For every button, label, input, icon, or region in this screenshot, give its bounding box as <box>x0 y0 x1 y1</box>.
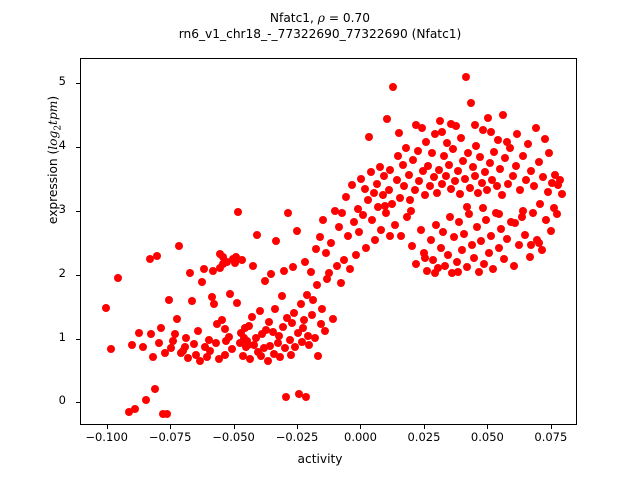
scatter-point <box>147 330 155 338</box>
scatter-point <box>447 120 455 128</box>
scatter-point <box>440 152 448 160</box>
scatter-point <box>261 277 269 285</box>
scatter-point <box>266 342 274 350</box>
scatter-point <box>198 278 206 286</box>
scatter-point <box>249 262 257 270</box>
x-tick-mark <box>424 425 425 429</box>
scatter-point <box>200 265 208 273</box>
scatter-point <box>400 182 408 190</box>
scatter-point <box>511 219 519 227</box>
y-tick-label-text: 1 <box>59 330 66 344</box>
scatter-point <box>397 232 405 240</box>
scatter-point <box>417 226 425 234</box>
scatter-point <box>498 191 506 199</box>
scatter-point <box>462 73 470 81</box>
scatter-point <box>515 241 523 249</box>
scatter-point <box>340 256 348 264</box>
scatter-point <box>350 218 358 226</box>
scatter-point <box>441 262 449 270</box>
x-tick-label: −0.100 <box>85 430 128 444</box>
scatter-point <box>190 340 198 348</box>
scatter-point <box>421 191 429 199</box>
scatter-point <box>163 410 171 418</box>
scatter-point <box>481 168 489 176</box>
scatter-point <box>139 343 147 351</box>
scatter-point <box>489 265 497 273</box>
scatter-point <box>484 114 492 122</box>
scatter-point <box>495 244 503 252</box>
y-tick-label-text: 2 <box>59 266 66 280</box>
scatter-point <box>288 319 296 327</box>
scatter-point <box>393 176 401 184</box>
y-tick-label-text: 0 <box>59 393 66 407</box>
scatter-point <box>221 351 229 359</box>
scatter-point <box>490 148 498 156</box>
scatter-point <box>359 211 367 219</box>
scatter-point <box>301 258 309 266</box>
x-tick-mark <box>107 425 108 429</box>
scatter-point <box>468 241 476 249</box>
scatter-point <box>367 168 375 176</box>
scatter-point <box>135 329 143 337</box>
scatter-point <box>456 190 464 198</box>
scatter-point <box>415 177 423 185</box>
scatter-point <box>544 188 552 196</box>
scatter-point <box>529 209 537 217</box>
scatter-point <box>382 209 390 217</box>
scatter-plot-area <box>81 59 576 424</box>
scatter-point <box>394 152 402 160</box>
chart-title-block: Nfatc1, ρ = 0.70 rn6_v1_chr18_-_77322690… <box>0 10 640 42</box>
scatter-point <box>248 313 256 321</box>
scatter-point <box>153 252 161 260</box>
scatter-point <box>325 269 333 277</box>
scatter-point <box>171 330 179 338</box>
scatter-point <box>483 186 491 194</box>
chart-title: Nfatc1, ρ = 0.70 <box>0 10 640 26</box>
y-tick-mark <box>76 83 80 84</box>
scatter-point <box>538 246 546 254</box>
plot-axes-frame <box>80 58 577 425</box>
scatter-point <box>313 281 321 289</box>
scatter-point <box>182 334 190 342</box>
scatter-point <box>352 251 360 259</box>
scatter-point <box>298 338 306 346</box>
scatter-point <box>519 207 527 215</box>
scatter-point <box>373 180 381 188</box>
scatter-point <box>181 343 189 351</box>
scatter-point <box>535 239 543 247</box>
scatter-point <box>495 210 503 218</box>
x-tick-mark <box>234 425 235 429</box>
scatter-point <box>169 337 177 345</box>
scatter-point <box>245 322 253 330</box>
x-tick-label: 0.050 <box>471 430 504 444</box>
scatter-point <box>333 262 341 270</box>
scatter-point <box>314 352 322 360</box>
scatter-point <box>519 152 527 160</box>
scatter-point <box>338 209 346 217</box>
scatter-point <box>299 324 307 332</box>
scatter-point <box>409 156 417 164</box>
scatter-point <box>504 180 512 188</box>
x-tick-mark <box>487 425 488 429</box>
scatter-point <box>396 194 404 202</box>
scatter-point <box>459 157 467 165</box>
scatter-point <box>446 213 454 221</box>
scatter-point <box>454 268 462 276</box>
scatter-point <box>142 396 150 404</box>
x-tick-mark <box>551 425 552 429</box>
scatter-point <box>335 223 343 231</box>
y-tick-mark <box>76 402 80 403</box>
scatter-point <box>433 189 441 197</box>
scatter-point <box>509 172 517 180</box>
scatter-point <box>411 186 419 194</box>
scatter-point <box>503 138 511 146</box>
scatter-point <box>157 324 165 332</box>
scatter-point <box>186 269 194 277</box>
scatter-point <box>385 186 393 194</box>
scatter-point <box>469 163 477 171</box>
scatter-point <box>485 249 493 257</box>
scatter-point <box>526 253 534 261</box>
scatter-point <box>155 339 163 347</box>
scatter-point <box>272 237 280 245</box>
scatter-point <box>278 292 286 300</box>
scatter-point <box>558 190 566 198</box>
scatter-point <box>541 135 549 143</box>
scatter-point <box>151 385 159 393</box>
scatter-point <box>386 166 394 174</box>
ylabel-math-subscript: 2 <box>53 125 63 131</box>
scatter-point <box>475 268 483 276</box>
scatter-point <box>282 393 290 401</box>
scatter-point <box>238 256 246 264</box>
scatter-point <box>474 189 482 197</box>
scatter-point <box>476 153 484 161</box>
scatter-point <box>472 142 480 150</box>
y-tick-mark <box>76 211 80 212</box>
scatter-point <box>309 296 317 304</box>
scatter-point <box>381 202 389 210</box>
scatter-point <box>442 172 450 180</box>
scatter-point <box>280 267 288 275</box>
scatter-point <box>365 133 373 141</box>
scatter-point <box>460 230 468 238</box>
scatter-point <box>535 158 543 166</box>
scatter-point <box>429 256 437 264</box>
scatter-point <box>246 355 254 363</box>
scatter-point <box>501 154 509 162</box>
scatter-point <box>188 297 196 305</box>
scatter-point <box>463 263 471 271</box>
y-tick-mark <box>76 275 80 276</box>
y-tick-mark <box>76 339 80 340</box>
x-tick-mark <box>360 425 361 429</box>
scatter-point <box>322 249 330 257</box>
scatter-point <box>486 159 494 167</box>
scatter-point <box>473 223 481 231</box>
x-tick-mark <box>297 425 298 429</box>
scatter-point <box>395 129 403 137</box>
scatter-point <box>522 176 530 184</box>
scatter-point <box>386 232 394 240</box>
x-tick-label: 0.075 <box>534 430 567 444</box>
scatter-point <box>471 172 479 180</box>
scatter-point <box>436 117 444 125</box>
scatter-point <box>438 128 446 136</box>
scatter-point <box>300 316 308 324</box>
scatter-point <box>399 161 407 169</box>
scatter-point <box>290 309 298 317</box>
scatter-point <box>408 242 416 250</box>
scatter-point <box>428 149 436 157</box>
scatter-point <box>361 185 369 193</box>
scatter-point <box>316 233 324 241</box>
scatter-point <box>556 176 564 184</box>
scatter-point <box>432 221 440 229</box>
scatter-point <box>532 124 540 132</box>
scatter-point <box>271 305 279 313</box>
scatter-point <box>547 227 555 235</box>
scatter-point <box>524 140 532 148</box>
scatter-point <box>422 138 430 146</box>
scatter-point <box>471 121 479 129</box>
scatter-point <box>464 149 472 157</box>
scatter-point <box>194 327 202 335</box>
scatter-point <box>449 145 457 153</box>
scatter-point <box>542 216 550 224</box>
scatter-point <box>305 341 313 349</box>
scatter-point <box>131 405 139 413</box>
scatter-point <box>337 279 345 287</box>
scatter-point <box>467 99 475 107</box>
scatter-point <box>175 242 183 250</box>
scatter-point <box>128 341 136 349</box>
scatter-point <box>388 200 396 208</box>
scatter-point <box>344 232 352 240</box>
x-tick-mark <box>170 425 171 429</box>
scatter-point <box>545 149 553 157</box>
scatter-point <box>500 255 508 263</box>
scatter-point <box>527 241 535 249</box>
y-tick-mark <box>76 147 80 148</box>
scatter-point <box>412 260 420 268</box>
scatter-point <box>470 254 478 262</box>
scatter-point <box>383 115 391 123</box>
scatter-point <box>447 185 455 193</box>
scatter-point <box>244 341 252 349</box>
scatter-point <box>165 296 173 304</box>
scatter-point <box>391 221 399 229</box>
scatter-point <box>218 316 226 324</box>
scatter-point <box>318 305 326 313</box>
x-tick-label: −0.050 <box>212 430 255 444</box>
x-tick-label: 0.025 <box>407 430 440 444</box>
scatter-point <box>389 83 397 91</box>
scatter-point <box>457 134 465 142</box>
scatter-point <box>256 307 264 315</box>
scatter-point <box>293 227 301 235</box>
scatter-point <box>206 347 214 355</box>
scatter-point <box>149 353 157 361</box>
scatter-point <box>510 262 518 270</box>
scatter-point <box>228 345 236 353</box>
scatter-point <box>539 173 547 181</box>
scatter-point <box>477 237 485 245</box>
x-tick-label: −0.075 <box>149 430 192 444</box>
scatter-point <box>521 231 529 239</box>
scatter-point <box>463 203 471 211</box>
scatter-point <box>253 231 261 239</box>
scatter-point <box>466 184 474 192</box>
scatter-point <box>458 246 466 254</box>
chart-subtitle: rn6_v1_chr18_-_77322690_77322690 (Nfatc1… <box>0 26 640 42</box>
scatter-point <box>512 162 520 170</box>
scatter-point <box>226 290 234 298</box>
scatter-point <box>355 228 363 236</box>
scatter-point <box>348 181 356 189</box>
scatter-point <box>342 193 350 201</box>
scatter-point <box>357 175 365 183</box>
scatter-point <box>402 144 410 152</box>
scatter-point <box>275 332 283 340</box>
scatter-point <box>430 173 438 181</box>
scatter-point <box>427 236 435 244</box>
scatter-point <box>212 339 220 347</box>
scatter-point <box>196 357 204 365</box>
scatter-point <box>308 311 316 319</box>
scatter-point <box>516 186 524 194</box>
rho-symbol: ρ <box>318 11 325 25</box>
scatter-point <box>346 265 354 273</box>
y-axis-label-wrapper: expression (log2tpm) <box>42 0 62 360</box>
scatter-point <box>407 207 415 215</box>
scatter-point <box>370 189 378 197</box>
scatter-point <box>453 258 461 266</box>
scatter-point <box>480 260 488 268</box>
scatter-point <box>494 136 502 144</box>
scatter-point <box>284 209 292 217</box>
scatter-point <box>225 333 233 341</box>
scatter-point <box>267 270 275 278</box>
scatter-point <box>279 323 287 331</box>
scatter-point <box>114 274 122 282</box>
y-tick-label-text: 3 <box>59 202 66 216</box>
scatter-point <box>493 182 501 190</box>
scatter-point <box>312 245 320 253</box>
scatter-point <box>368 216 376 224</box>
scatter-point <box>482 216 490 224</box>
scatter-point <box>439 228 447 236</box>
scatter-point <box>264 357 272 365</box>
scatter-point <box>487 128 495 136</box>
scatter-point <box>107 345 115 353</box>
scatter-point <box>311 334 319 342</box>
scatter-point <box>454 167 462 175</box>
scatter-point <box>450 233 458 241</box>
scatter-point <box>287 351 295 359</box>
figure-canvas: Nfatc1, ρ = 0.70 rn6_v1_chr18_-_77322690… <box>0 0 640 480</box>
scatter-point <box>503 235 511 243</box>
scatter-point <box>210 300 218 308</box>
scatter-point <box>513 130 521 138</box>
scatter-point <box>329 315 337 323</box>
scatter-point <box>276 353 284 361</box>
scatter-point <box>377 226 385 234</box>
scatter-point <box>536 200 544 208</box>
scatter-point <box>530 182 538 190</box>
scatter-point <box>173 315 181 323</box>
scatter-point <box>496 165 504 173</box>
scatter-point <box>265 318 273 326</box>
scatter-point <box>234 208 242 216</box>
scatter-point <box>445 161 453 169</box>
scatter-point <box>438 180 446 188</box>
scatter-point <box>455 218 463 226</box>
scatter-point <box>424 162 432 170</box>
scatter-point <box>451 177 459 185</box>
scatter-point <box>435 166 443 174</box>
scatter-point <box>364 196 372 204</box>
y-tick-label-text: 5 <box>59 74 66 88</box>
x-tick-label: −0.025 <box>276 430 319 444</box>
scatter-point <box>219 253 227 261</box>
scatter-point <box>499 111 507 119</box>
scatter-point <box>102 304 110 312</box>
scatter-point <box>465 210 473 218</box>
scatter-point <box>371 236 379 244</box>
ylabel-math-tpm: tpm <box>46 101 60 125</box>
scatter-point <box>414 147 422 155</box>
x-axis-label: activity <box>0 452 640 466</box>
scatter-point <box>302 393 310 401</box>
scatter-point <box>319 216 327 224</box>
scatter-point <box>444 251 452 259</box>
scatter-point <box>289 263 297 271</box>
scatter-point <box>426 182 434 190</box>
scatter-point <box>362 244 370 252</box>
x-tick-label: 0.000 <box>344 430 377 444</box>
scatter-point <box>167 344 175 352</box>
scatter-point <box>431 269 439 277</box>
scatter-point <box>405 171 413 179</box>
scatter-point <box>553 210 561 218</box>
scatter-point <box>527 167 535 175</box>
scatter-point <box>437 244 445 252</box>
scatter-point <box>307 268 315 276</box>
scatter-point <box>497 225 505 233</box>
scatter-point <box>461 175 469 183</box>
scatter-point <box>376 163 384 171</box>
scatter-point <box>321 327 329 335</box>
scatter-point <box>487 232 495 240</box>
y-tick-label-text: 4 <box>59 138 66 152</box>
scatter-point <box>297 300 305 308</box>
scatter-point <box>327 239 335 247</box>
scatter-point <box>233 299 241 307</box>
scatter-point <box>406 196 414 204</box>
scatter-point <box>479 204 487 212</box>
